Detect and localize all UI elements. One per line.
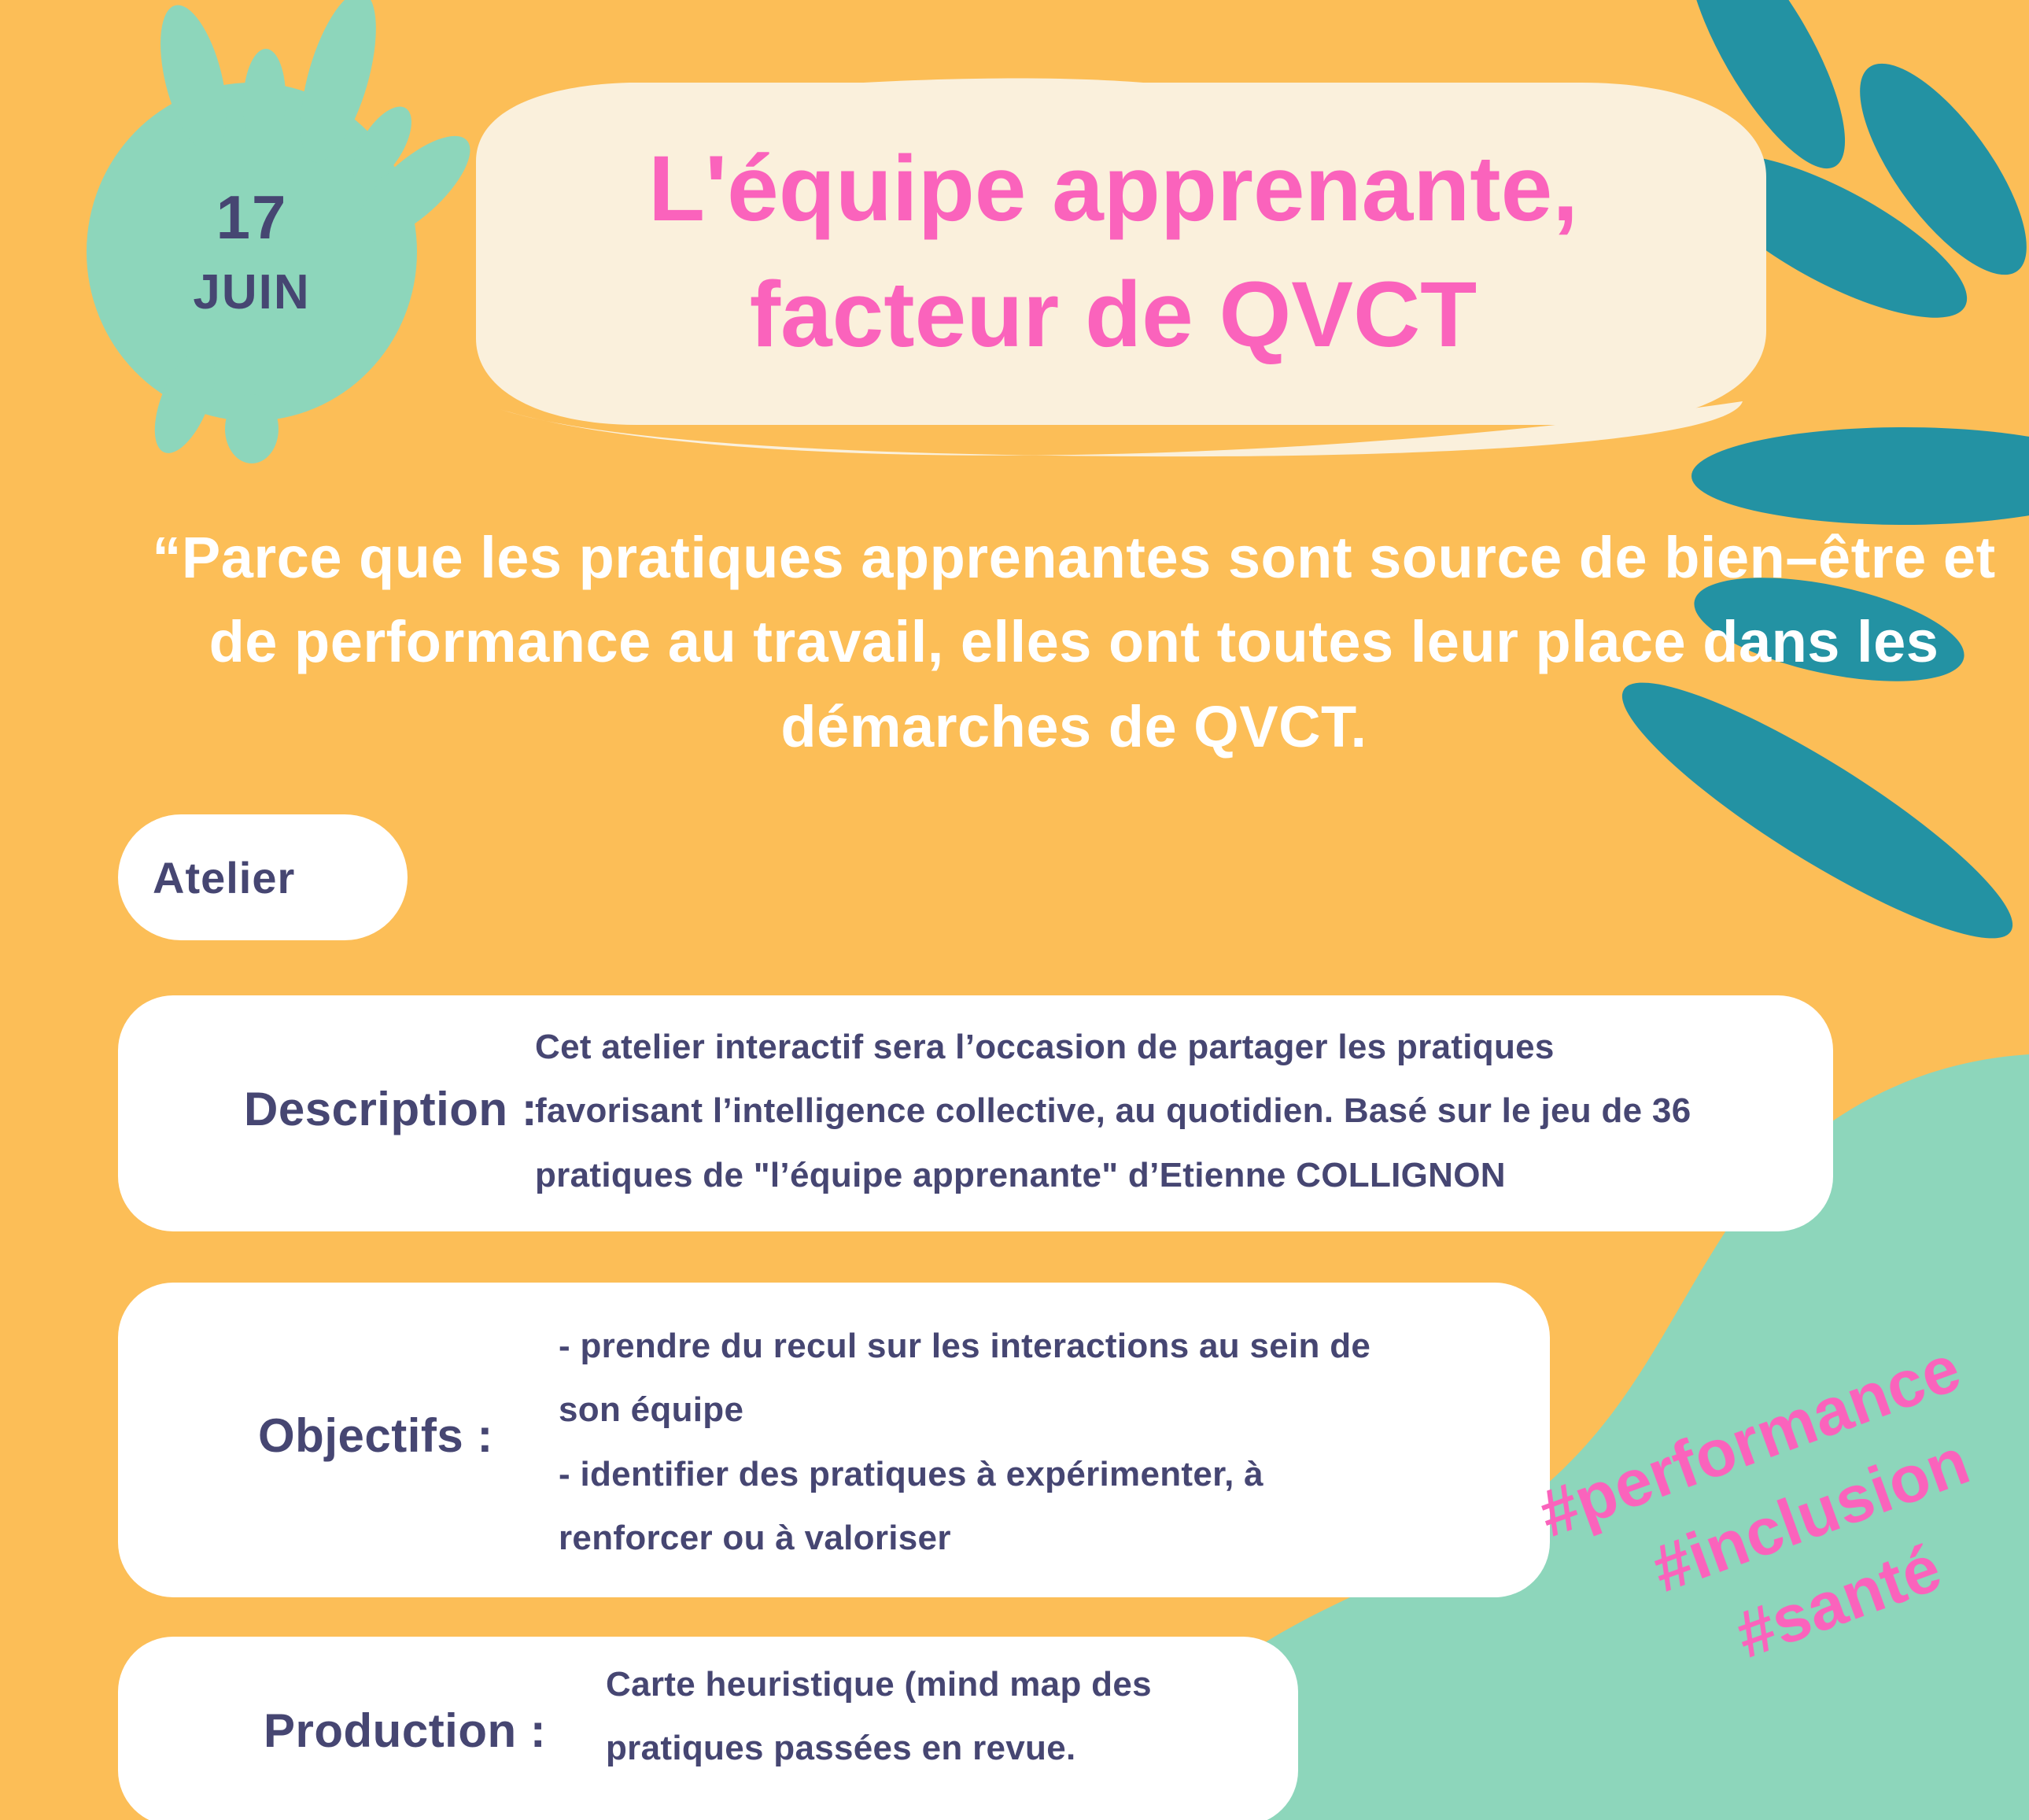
card-production-line-1: Carte heuristique (mind map des	[606, 1652, 1259, 1716]
date-month: JUIN	[193, 268, 310, 317]
card-objectifs-line-3: - identifier des pratiques à expérimente…	[559, 1442, 1503, 1506]
card-objectifs-label: Objectifs :	[258, 1408, 493, 1463]
title-line-1: L'équipe apprenante,	[648, 126, 1578, 252]
card-production-line-2: pratiques passées en revue.	[606, 1716, 1259, 1780]
card-description-line-2: favorisant l’intelligence collective, au…	[535, 1079, 1778, 1143]
card-objectifs-line-1: - prendre du recul sur les interactions …	[559, 1314, 1503, 1378]
card-description-label: Description :	[244, 1082, 537, 1136]
card-objectifs-line-2: son équipe	[559, 1378, 1503, 1442]
card-production-body: Carte heuristique (mind map des pratique…	[606, 1652, 1259, 1781]
card-description-line-3: pratiques de "l’équipe apprenante" d’Eti…	[535, 1143, 1778, 1207]
card-objectifs-line-4: renforcer ou à valoriser	[559, 1506, 1503, 1570]
date-badge: 17 JUIN	[87, 8, 417, 496]
card-objectifs: Objectifs : - prendre du recul sur les i…	[118, 1283, 1550, 1597]
card-production: Production : Carte heuristique (mind map…	[118, 1637, 1298, 1820]
title-line-2: facteur de QVCT	[750, 252, 1477, 378]
card-description-body: Cet atelier interactif sera l’occasion d…	[535, 1015, 1778, 1207]
title-bubble: L'équipe apprenante, facteur de QVCT	[452, 83, 1774, 421]
card-objectifs-body: - prendre du recul sur les interactions …	[559, 1314, 1503, 1571]
atelier-pill-label: Atelier	[153, 852, 295, 903]
card-description: Description : Cet atelier interactif ser…	[118, 995, 1833, 1231]
card-description-line-1: Cet atelier interactif sera l’occasion d…	[535, 1015, 1778, 1079]
card-production-label: Production :	[264, 1704, 546, 1758]
quote-text: “Parce que les pratiques apprenantes son…	[138, 515, 2010, 769]
date-day: 17	[216, 186, 288, 248]
poster-canvas: 17 JUIN L'équipe apprenante, facteur de …	[0, 0, 2029, 1820]
page-title: L'équipe apprenante, facteur de QVCT	[452, 83, 1774, 421]
atelier-pill: Atelier	[118, 814, 408, 940]
